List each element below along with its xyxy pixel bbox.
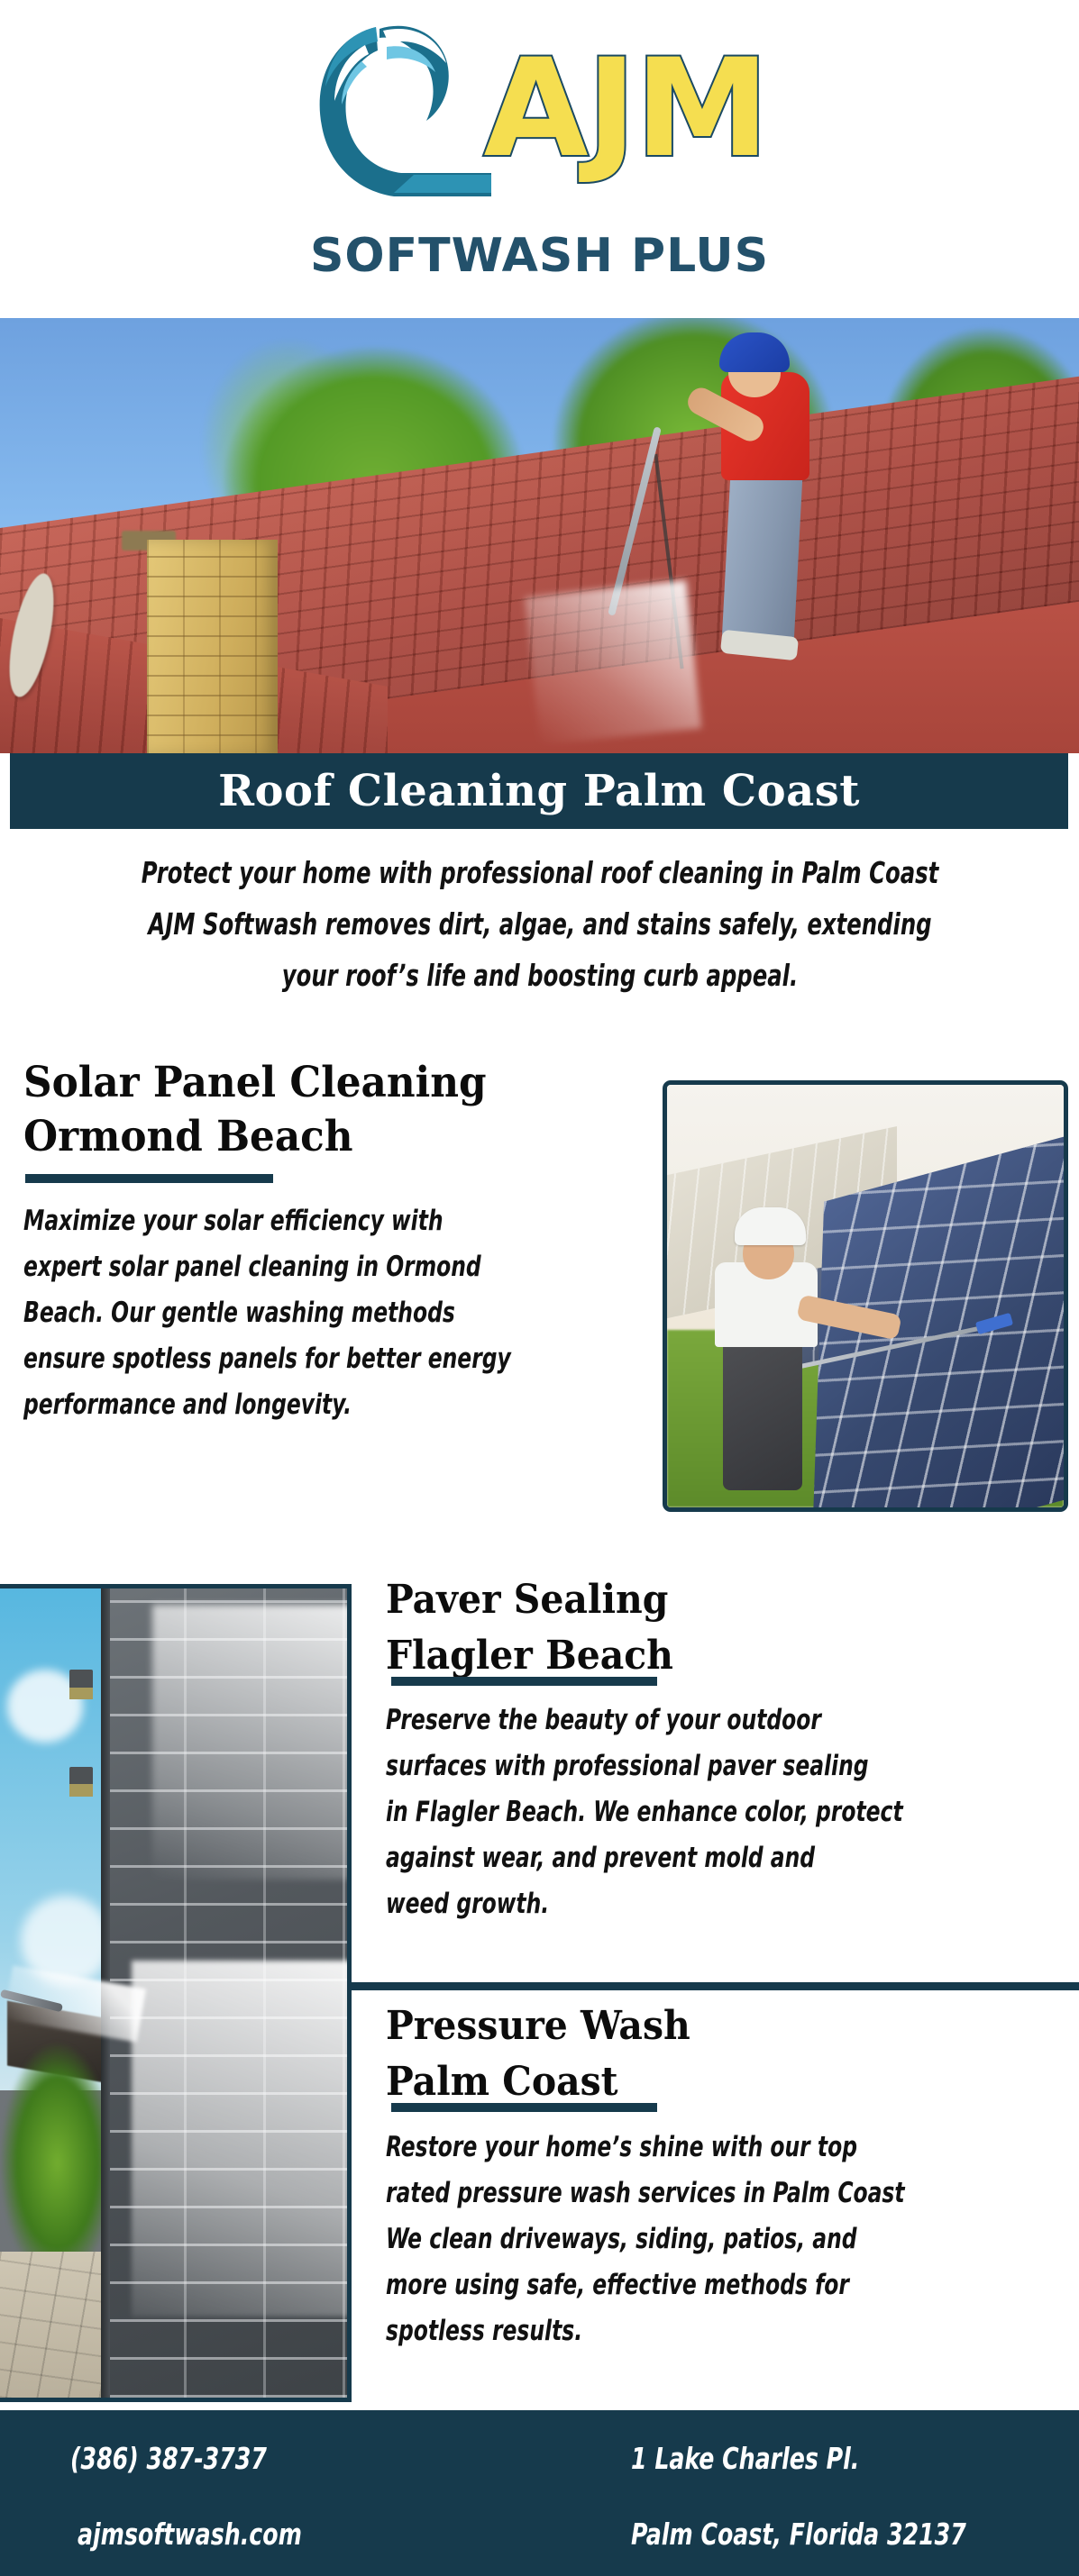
solar-panel-photo (663, 1080, 1068, 1512)
solar-body: Maximize your solar efficiency with expe… (23, 1198, 523, 1428)
logo-tagline: SOFTWASH PLUS (270, 229, 810, 283)
paver-body-line: in Flagler Beach. We enhance color, prot… (386, 1789, 950, 1835)
footer-contact-bar: (386) 387-3737 ajmsoftwash.com 1 Lake Ch… (0, 2410, 1079, 2576)
paver-body-line: against wear, and prevent mold and (386, 1835, 950, 1881)
solar-heading-line: Solar Panel Cleaning (23, 1056, 577, 1110)
solar-heading: Solar Panel Cleaning Ormond Beach (23, 1056, 577, 1164)
paver-body-line: surfaces with professional paver sealing (386, 1743, 950, 1789)
paver-heading-line: Paver Sealing (386, 1572, 1006, 1628)
pressure-heading-line: Pressure Wash (386, 1998, 1006, 2054)
solar-body-line: Maximize your solar efficiency with (23, 1198, 523, 1244)
footer-address-line2: Palm Coast, Florida 32137 (631, 2517, 966, 2552)
pressure-heading-rule (391, 2103, 657, 2112)
solar-heading-line: Ormond Beach (23, 1110, 577, 1164)
solar-body-line: performance and longevity. (23, 1382, 523, 1428)
footer-phone[interactable]: (386) 387-3737 (70, 2441, 267, 2476)
solar-body-line: expert solar panel cleaning in Ormond (23, 1244, 523, 1290)
intro-line: Protect your home with professional roof… (115, 847, 965, 898)
wave-icon (279, 14, 504, 240)
pressure-body: Restore your home’s shine with our top r… (386, 2125, 961, 2354)
pressure-heading: Pressure Wash Palm Coast (386, 1998, 1006, 2110)
logo-band: AJM SOFTWASH PLUS (0, 0, 1079, 318)
paver-body-line: weed growth. (386, 1881, 950, 1927)
section-divider (352, 1982, 1079, 1990)
paver-heading-line: Flagler Beach (386, 1628, 1006, 1684)
section-title-banner: Roof Cleaning Palm Coast (10, 753, 1068, 829)
logo-wordmark: AJM (484, 41, 768, 177)
footer-website[interactable]: ajmsoftwash.com (78, 2517, 302, 2552)
pressure-body-line: rated pressure wash services in Palm Coa… (386, 2171, 961, 2216)
pressure-wash-wall-photo (0, 1584, 352, 2402)
intro-line: your roof’s life and boosting curb appea… (115, 950, 965, 1001)
pressure-body-line: We clean driveways, siding, patios, and (386, 2216, 961, 2262)
paver-heading-rule (391, 1677, 657, 1686)
paver-heading: Paver Sealing Flagler Beach (386, 1572, 1006, 1684)
pressure-body-line: spotless results. (386, 2308, 961, 2354)
footer-address-line1: 1 Lake Charles Pl. (631, 2441, 859, 2476)
solar-heading-rule (25, 1174, 273, 1183)
solar-body-line: ensure spotless panels for better energy (23, 1336, 523, 1382)
paver-body-line: Preserve the beauty of your outdoor (386, 1698, 950, 1743)
pressure-body-line: Restore your home’s shine with our top (386, 2125, 961, 2171)
banner-title-text: Roof Cleaning Palm Coast (218, 766, 860, 816)
intro-line: AJM Softwash removes dirt, algae, and st… (115, 898, 965, 950)
solar-body-line: Beach. Our gentle washing methods (23, 1290, 523, 1336)
hero-roof-cleaning-photo (0, 318, 1079, 753)
brand-logo: AJM SOFTWASH PLUS (270, 13, 810, 310)
pressure-heading-line: Palm Coast (386, 2054, 1006, 2110)
pressure-body-line: more using safe, effective methods for (386, 2262, 961, 2308)
paver-body: Preserve the beauty of your outdoor surf… (386, 1698, 950, 1927)
intro-paragraph: Protect your home with professional roof… (115, 847, 965, 1001)
